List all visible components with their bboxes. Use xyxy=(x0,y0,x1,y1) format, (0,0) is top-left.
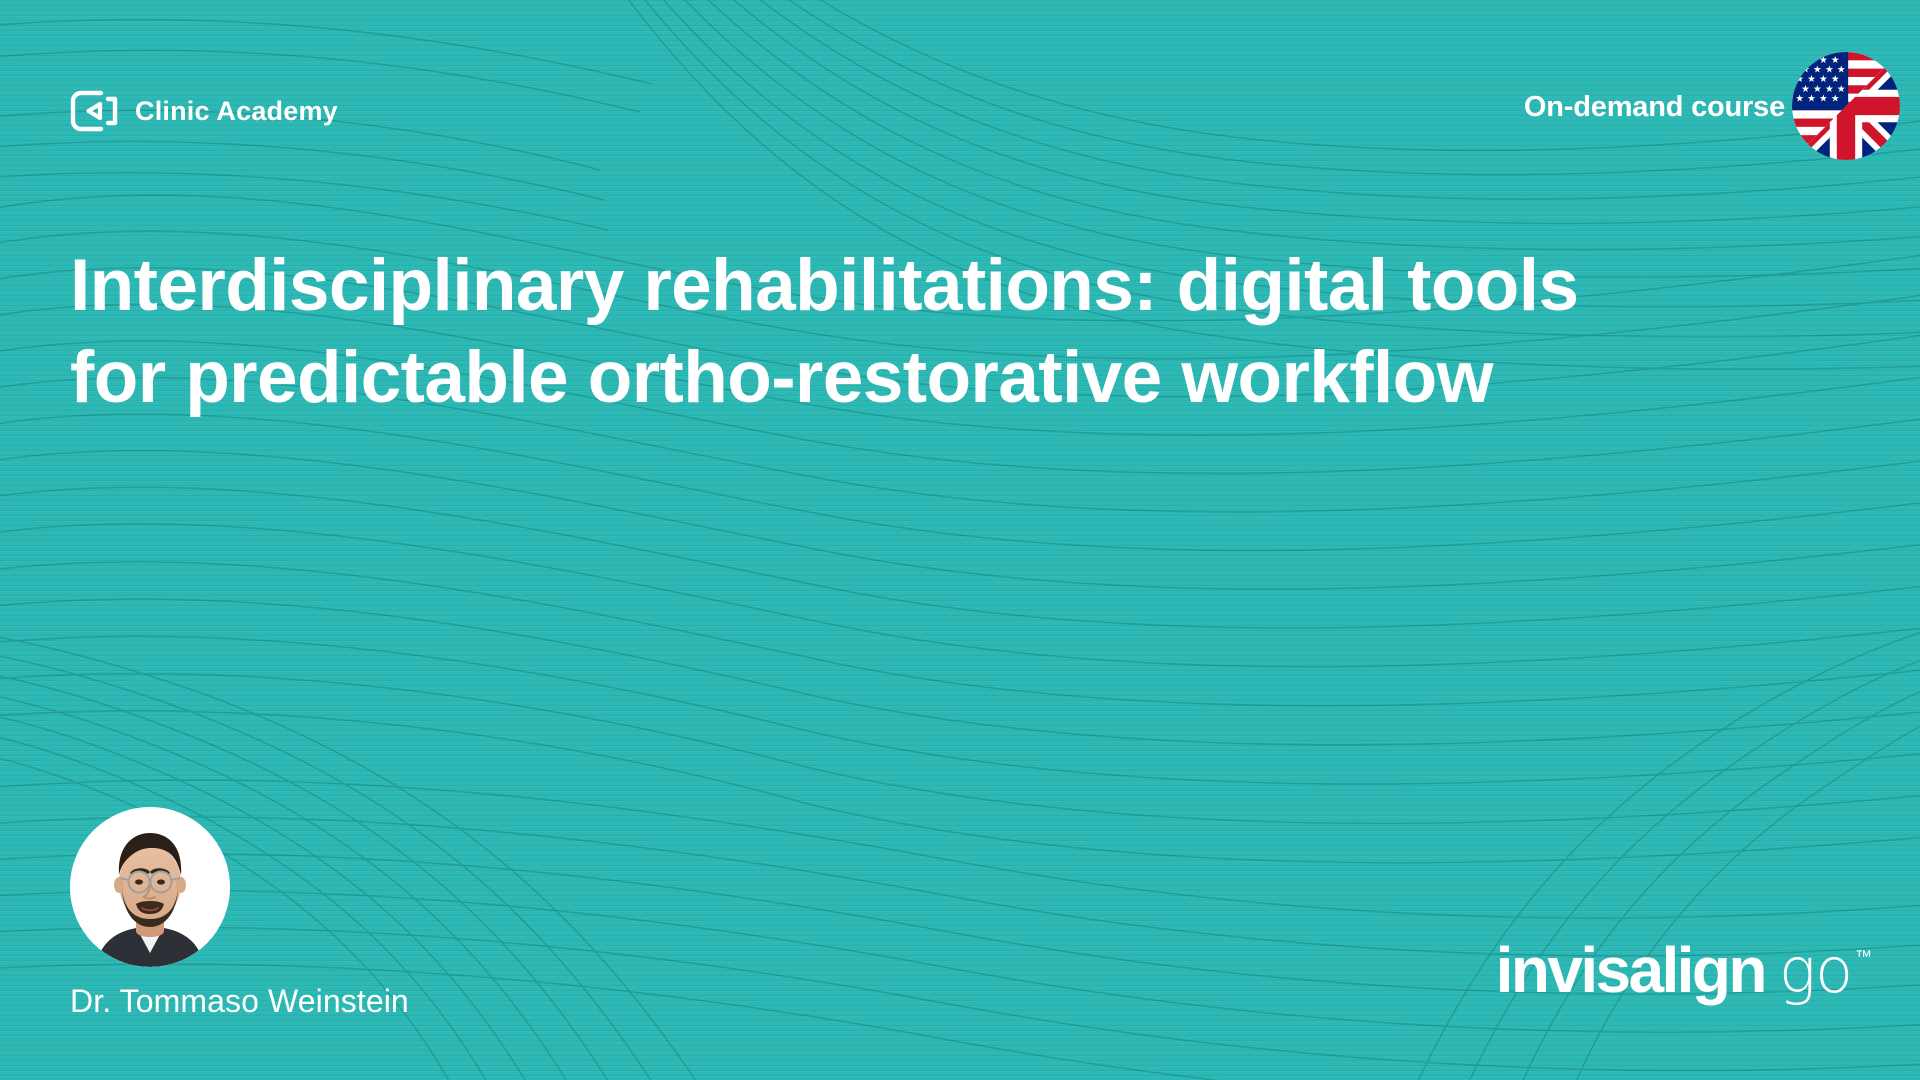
trademark-symbol: ™ xyxy=(1855,948,1872,965)
presenter-name: Dr. Tommaso Weinstein xyxy=(70,983,409,1020)
header: Clinic Academy On-demand course xyxy=(0,0,1920,200)
svg-text:★: ★ xyxy=(1795,55,1804,66)
product-logo-main: invisalign xyxy=(1496,938,1765,1002)
svg-text:★: ★ xyxy=(1831,94,1840,105)
page-title: Interdisciplinary rehabilitations: digit… xyxy=(70,240,1860,424)
svg-text:★: ★ xyxy=(1819,94,1828,105)
svg-text:★: ★ xyxy=(1807,94,1816,105)
title-line-1: Interdisciplinary rehabilitations: digit… xyxy=(70,240,1860,332)
presenter-block: Dr. Tommaso Weinstein xyxy=(70,807,409,1020)
product-logo-sub: go xyxy=(1779,940,1852,1002)
course-type-label: On-demand course xyxy=(1524,91,1785,124)
brand-name: Clinic Academy xyxy=(135,96,338,127)
title-line-2: for predictable ortho-restorative workfl… xyxy=(70,332,1860,424)
presenter-portrait-avatar xyxy=(70,807,230,967)
us-uk-combined-flag-icon: ★★★★ ★★★★ ★★★★ ★★★★ ★★★★ xyxy=(1792,52,1900,160)
video-camera-play-icon xyxy=(70,90,120,132)
invisalign-go-logo: invisalign go ™ xyxy=(1496,938,1872,1002)
svg-text:★: ★ xyxy=(1795,94,1804,105)
avatar xyxy=(70,807,230,967)
brand-logo[interactable]: Clinic Academy xyxy=(70,90,338,132)
